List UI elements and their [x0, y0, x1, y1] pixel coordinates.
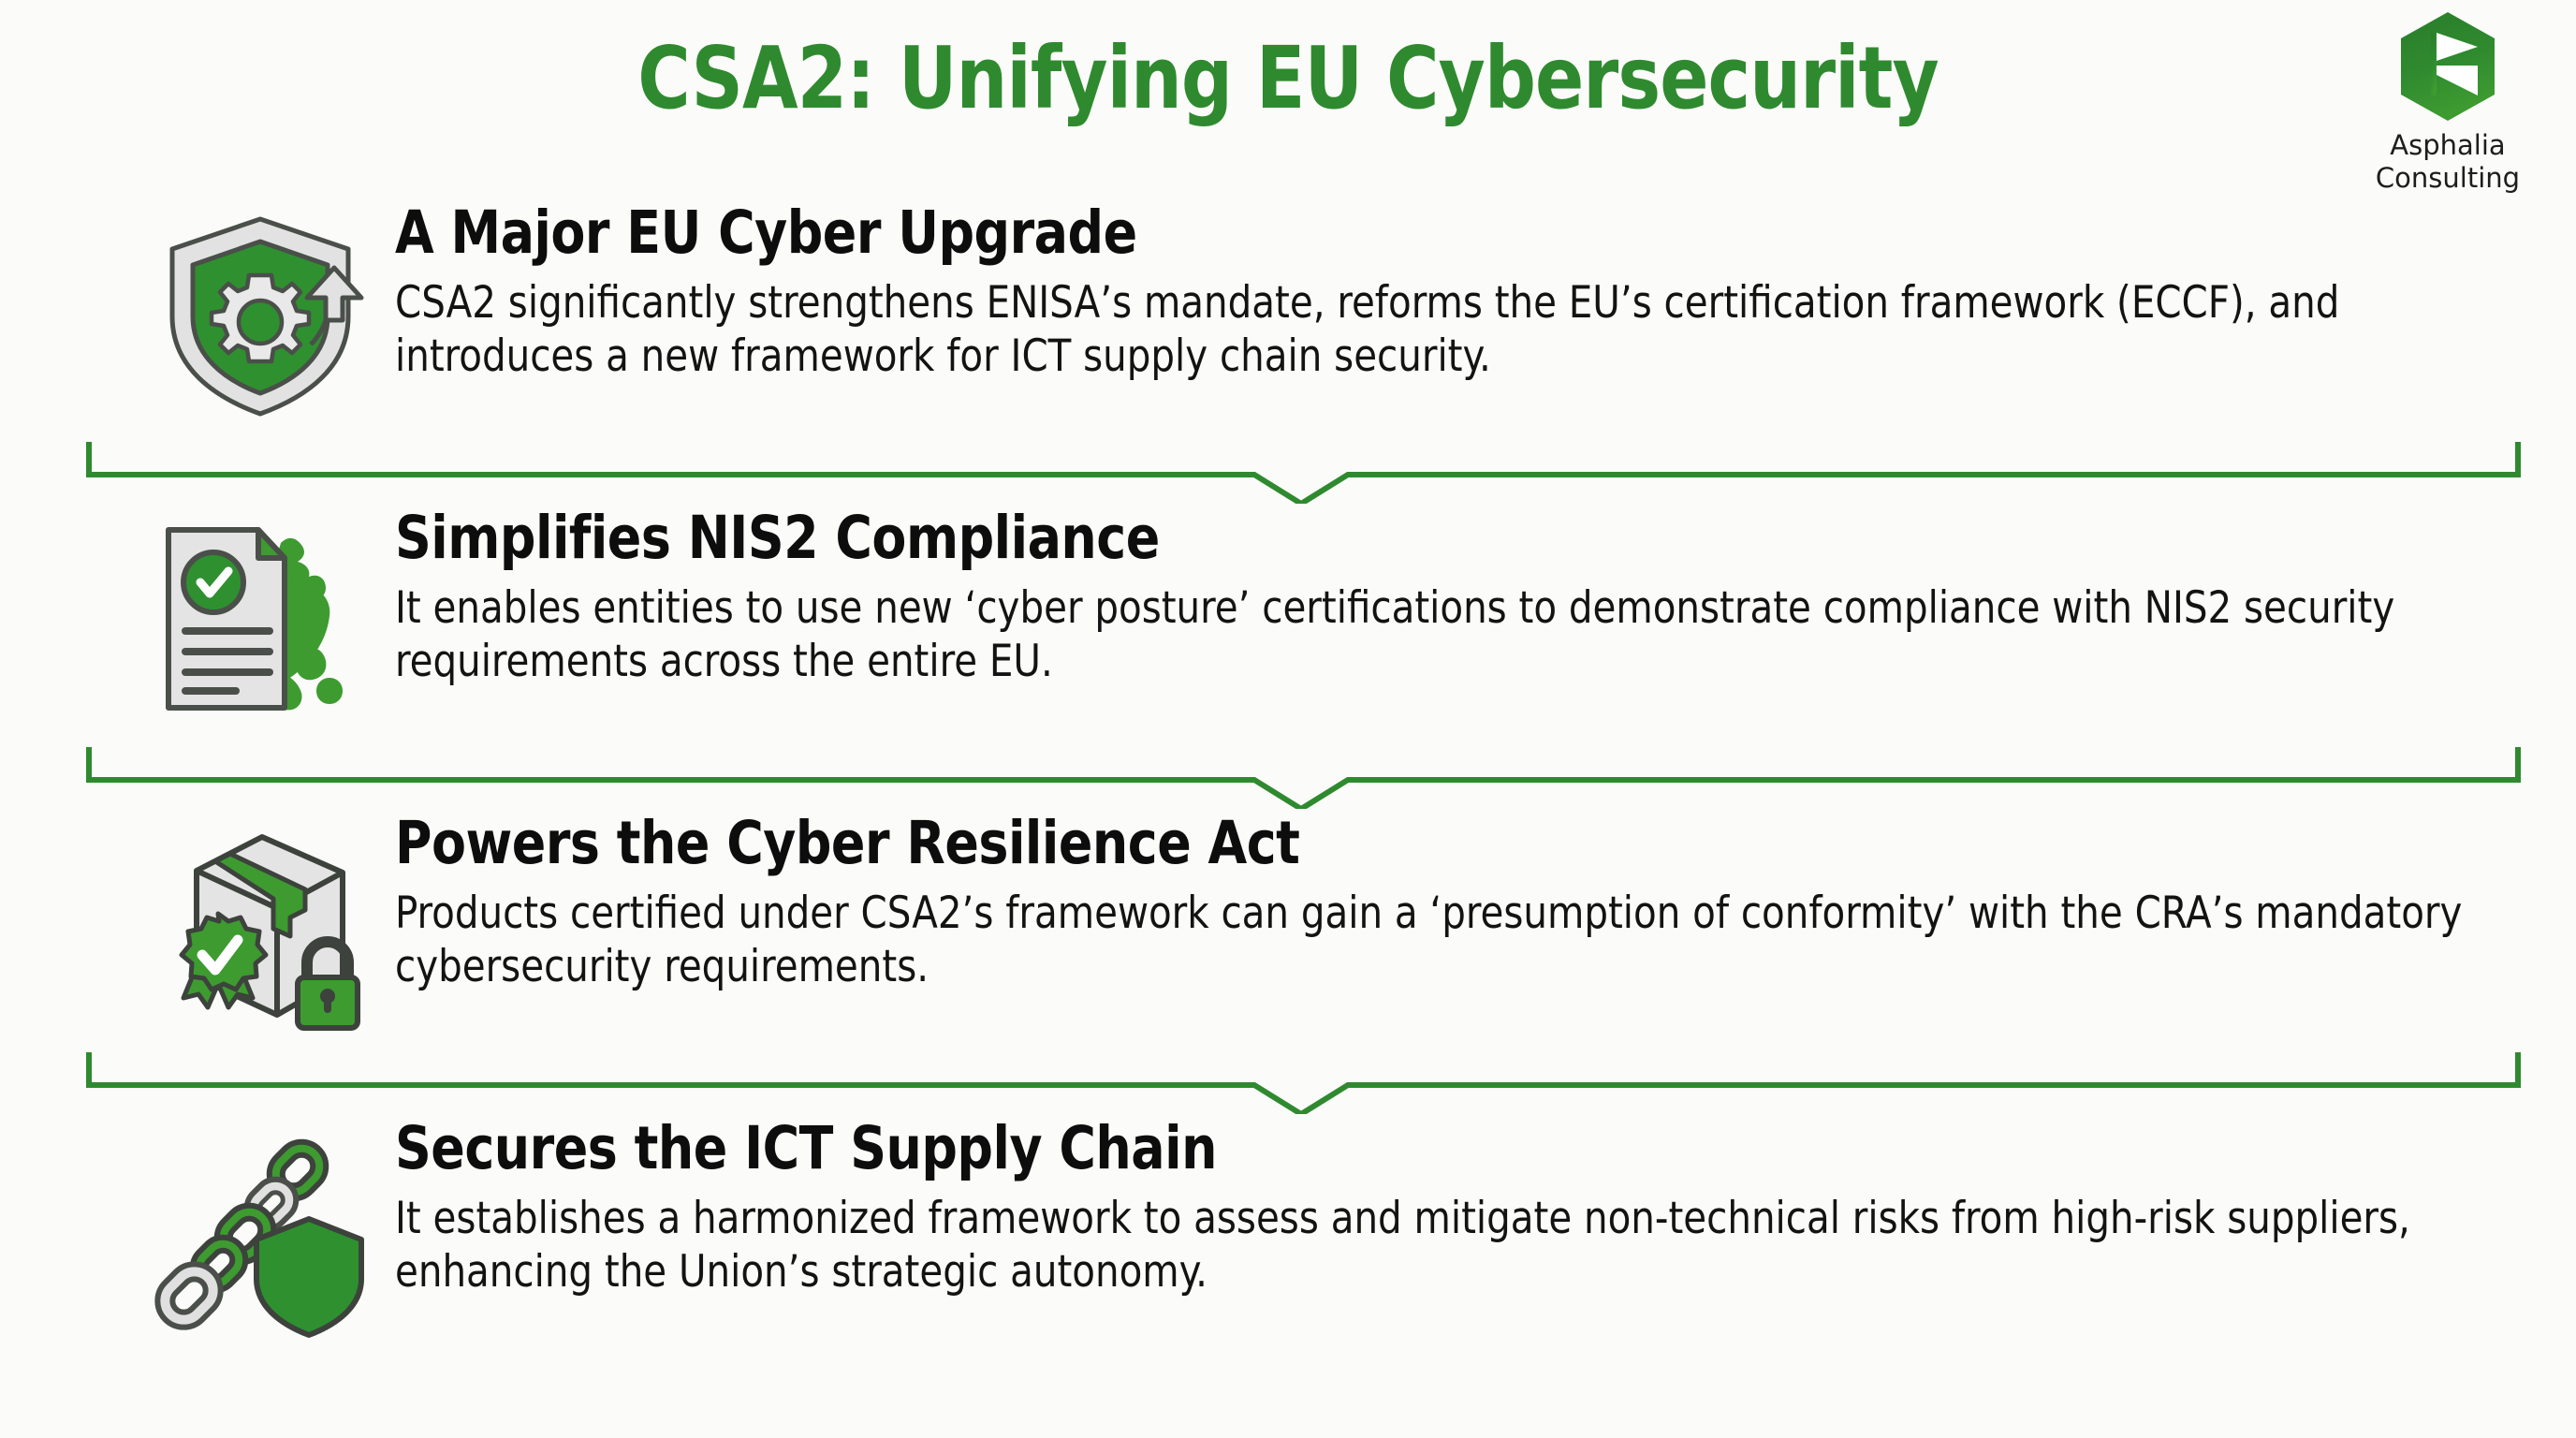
- section-divider: [0, 738, 2576, 809]
- section-text: It enables entities to use new ‘cyber po…: [395, 581, 2478, 689]
- brand-name: Asphalia Consulting: [2349, 129, 2546, 196]
- section-body: Secures the ICT Supply Chain It establis…: [374, 1114, 2576, 1299]
- section-text: It establishes a harmonized framework to…: [395, 1192, 2478, 1299]
- sections-list: A Major EU Cyber Upgrade CSA2 significan…: [0, 198, 2576, 1348]
- section-divider: [0, 1043, 2576, 1114]
- section-row: Powers the Cyber Resilience Act Products…: [0, 809, 2576, 1043]
- section-heading: Secures the ICT Supply Chain: [395, 1118, 2467, 1181]
- certified-document-eu-map-icon: [140, 507, 374, 732]
- section-divider: [0, 433, 2576, 504]
- section-text: CSA2 significantly strengthens ENISA’s m…: [395, 276, 2478, 384]
- section-text: Products certified under CSA2’s framewor…: [395, 887, 2478, 994]
- section-body: Powers the Cyber Resilience Act Products…: [374, 809, 2576, 993]
- asphalia-hexagon-logo-icon: [2395, 9, 2500, 124]
- page-title: CSA2: Unifying EU Cybersecurity: [90, 36, 2485, 122]
- section-heading: Simplifies NIS2 Compliance: [395, 507, 2467, 570]
- section-body: A Major EU Cyber Upgrade CSA2 significan…: [374, 198, 2576, 383]
- brand-logo-block: Asphalia Consulting: [2349, 9, 2546, 196]
- section-body: Simplifies NIS2 Compliance It enables en…: [374, 504, 2576, 688]
- header: CSA2: Unifying EU Cybersecurity Asphalia…: [0, 0, 2576, 201]
- section-row: Simplifies NIS2 Compliance It enables en…: [0, 504, 2576, 738]
- certified-package-lock-icon: [140, 813, 374, 1037]
- shield-gear-upgrade-icon: [140, 202, 374, 427]
- section-row: A Major EU Cyber Upgrade CSA2 significan…: [0, 198, 2576, 433]
- section-heading: Powers the Cyber Resilience Act: [395, 813, 2467, 875]
- section-heading: A Major EU Cyber Upgrade: [395, 202, 2467, 265]
- section-row: Secures the ICT Supply Chain It establis…: [0, 1114, 2576, 1348]
- supply-chain-shield-icon: [140, 1118, 374, 1343]
